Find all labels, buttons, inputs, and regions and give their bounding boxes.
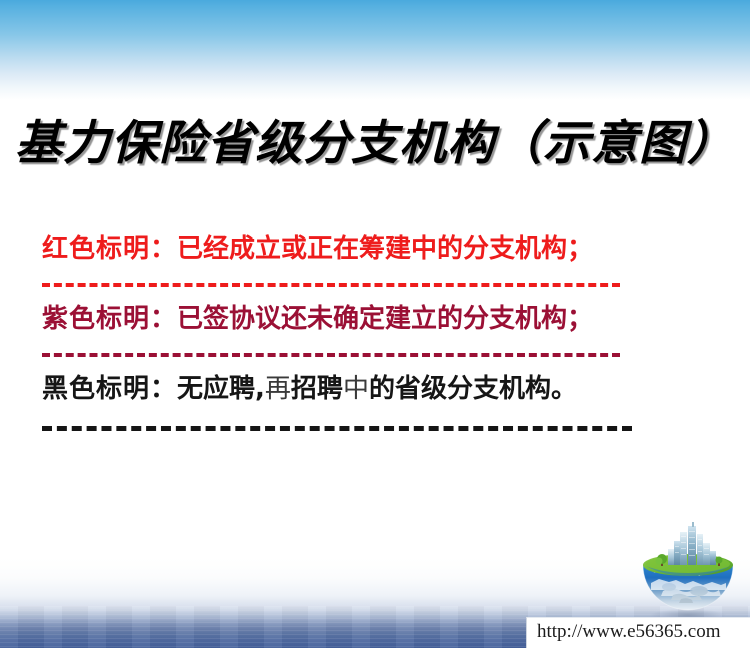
sky-gradient-background (0, 0, 750, 100)
legend-item-black: 黑色标明：无应聘,再招聘中的省级分支机构。 (42, 372, 702, 406)
legend-divider-red (42, 283, 620, 287)
legend-item-red: 红色标明：已经成立或正在筹建中的分支机构； (42, 232, 702, 266)
legend-block: 红色标明：已经成立或正在筹建中的分支机构； 紫色标明：已签协议还未确定建立的分支… (42, 232, 702, 431)
watermark-band: http://www.e56365.com (526, 617, 750, 648)
legend-description-red: 已经成立或正在筹建中的分支机构； (177, 234, 593, 264)
legend-divider-black (42, 426, 632, 431)
legend-description-purple: 已签协议还未确定建立的分支机构； (177, 304, 593, 334)
watermark-url: http://www.e56365.com (537, 621, 720, 643)
legend-label-red: 红色标明： (42, 234, 177, 264)
slide-title: 基力保险省级分支机构（示意图） (0, 104, 750, 173)
legend-description-black-d: 中 (343, 374, 369, 404)
legend-label-black: 黑色标明： (42, 374, 177, 404)
legend-description-black-b: 再 (265, 374, 291, 404)
legend-description-black-a: 无应聘, (177, 374, 265, 404)
legend-description-black-e: 的省级分支机构。 (369, 374, 577, 404)
legend-item-purple: 紫色标明：已签协议还未确定建立的分支机构； (42, 302, 702, 336)
legend-divider-purple (42, 353, 620, 357)
legend-description-black-c: 招聘 (291, 374, 343, 404)
globe-city-logo-icon (637, 521, 739, 621)
presentation-slide: 基力保险省级分支机构（示意图） 红色标明：已经成立或正在筹建中的分支机构； 紫色… (0, 0, 750, 648)
legend-label-purple: 紫色标明： (42, 304, 177, 334)
